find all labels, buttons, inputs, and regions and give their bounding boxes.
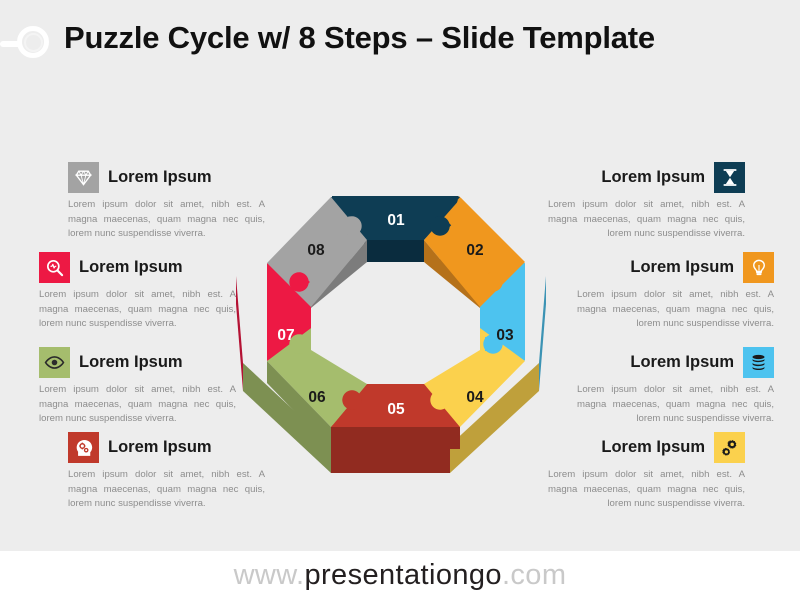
magnifier-ring-inner [24,33,43,52]
step-block-05-heading: Lorem Ipsum [108,438,212,457]
label-06: 06 [308,389,326,406]
step-block-01-heading: Lorem Ipsum [601,168,705,187]
step-block-06-body: Lorem ipsum dolor sit amet, nibh est. A … [39,383,236,427]
step-block-04-heading: Lorem Ipsum [601,438,705,457]
step-block-06-header: Lorem Ipsum [39,347,236,378]
eye-icon[interactable] [39,347,70,378]
label-03: 03 [496,327,514,344]
database-icon[interactable] [743,347,774,378]
watermark-text: www.presentationgo.com [234,559,567,592]
step-block-02-body: Lorem ipsum dolor sit amet, nibh est. A … [577,288,774,332]
label-02: 02 [466,242,483,259]
label-01: 01 [387,212,405,229]
step-block-08-heading: Lorem Ipsum [108,168,212,187]
step-block-01[interactable]: Lorem Ipsum Lorem ipsum dolor sit amet, … [548,162,745,242]
footer-watermark: www.presentationgo.com [0,551,800,600]
label-07: 07 [277,327,294,344]
step-block-06[interactable]: Lorem Ipsum Lorem ipsum dolor sit amet, … [39,347,236,427]
step-block-01-body: Lorem ipsum dolor sit amet, nibh est. A … [548,198,745,242]
page-title: Puzzle Cycle w/ 8 Steps – Slide Template [64,19,684,57]
segment-03-side [539,276,546,391]
step-block-02-header: Lorem Ipsum [577,252,774,283]
diamond-icon[interactable] [68,162,99,193]
step-block-06-heading: Lorem Ipsum [79,353,183,372]
lightbulb-icon[interactable] [743,252,774,283]
step-block-03[interactable]: Lorem Ipsum Lorem ipsum dolor sit amet, … [577,347,774,427]
step-block-07-header: Lorem Ipsum [39,252,236,283]
step-block-04-body: Lorem ipsum dolor sit amet, nibh est. A … [548,468,745,512]
step-block-07[interactable]: Lorem Ipsum Lorem ipsum dolor sit amet, … [39,252,236,332]
step-block-03-header: Lorem Ipsum [577,347,774,378]
label-05: 05 [387,401,405,418]
gears-icon[interactable] [714,432,745,463]
puzzle-ring-clean: 01 02 03 04 05 06 07 08 [267,197,525,449]
step-block-02-heading: Lorem Ipsum [630,258,734,277]
step-block-02[interactable]: Lorem Ipsum Lorem ipsum dolor sit amet, … [577,252,774,332]
head-gears-icon[interactable] [68,432,99,463]
magnifier-decoration-icon [0,22,56,66]
step-block-03-heading: Lorem Ipsum [630,353,734,372]
watermark-suffix: .com [502,559,566,591]
step-block-04[interactable]: Lorem Ipsum Lorem ipsum dolor sit amet, … [548,432,745,512]
label-08: 08 [307,242,325,259]
step-block-07-heading: Lorem Ipsum [79,258,183,277]
watermark-prefix: www. [234,559,305,591]
hourglass-icon[interactable] [714,162,745,193]
step-block-03-body: Lorem ipsum dolor sit amet, nibh est. A … [577,383,774,427]
puzzle-cycle-diagram: 08 01 02 03 [228,188,568,484]
step-block-07-body: Lorem ipsum dolor sit amet, nibh est. A … [39,288,236,332]
step-block-01-header: Lorem Ipsum [548,162,745,193]
slide-canvas: Puzzle Cycle w/ 8 Steps – Slide Template… [0,0,800,551]
label-04: 04 [466,389,484,406]
step-block-04-header: Lorem Ipsum [548,432,745,463]
watermark-brand: presentationgo [304,559,501,591]
search-pulse-icon[interactable] [39,252,70,283]
